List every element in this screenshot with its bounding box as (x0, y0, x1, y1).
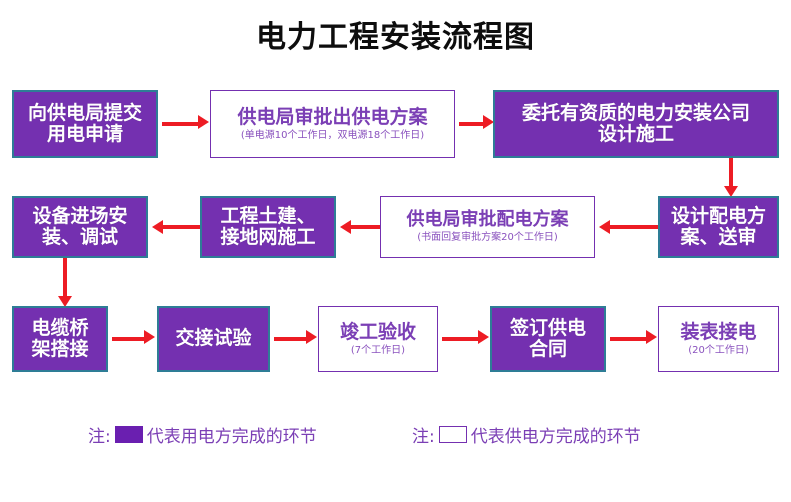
node-commission-installer[interactable]: 委托有资质的电力安装公司 设计施工 (493, 90, 779, 158)
node-handover-test[interactable]: 交接试验 (157, 306, 270, 372)
node-sign-contract-line1: 签订供电 (510, 318, 586, 339)
legend-utility-side: 注: 代表供电方完成的环节 (412, 422, 641, 447)
node-meter-connect[interactable]: 装表接电 (20个工作日) (658, 306, 779, 372)
arrow-approve-to-commission (459, 122, 485, 126)
legend-customer-text: 代表用电方完成的环节 (147, 422, 317, 447)
node-completion-acceptance-note: (7个工作日) (351, 345, 405, 356)
arrow-acceptance-to-contract (442, 337, 480, 341)
node-handover-test-title: 交接试验 (175, 328, 251, 349)
arrow-head-cable-tray-to-handover (144, 330, 155, 344)
node-apply-line2: 用电申请 (47, 124, 123, 145)
node-approve-supply-plan[interactable]: 供电局审批出供电方案 (单电源10个工作日，双电源18个工作日) (210, 90, 455, 158)
node-civil-and-grounding-line1: 工程土建、 (220, 206, 315, 227)
arrow-head-acceptance-to-contract (478, 330, 489, 344)
node-civil-and-grounding[interactable]: 工程土建、 接地网施工 (200, 196, 336, 258)
node-approve-distribution-plan-title: 供电局审批配电方案 (407, 210, 569, 230)
legend-utility-swatch (439, 426, 467, 443)
node-approve-distribution-plan[interactable]: 供电局审批配电方案 (书面回复审批方案20个工作日) (380, 196, 595, 258)
arrow-equipment-to-cable-tray (63, 258, 67, 298)
node-approve-distribution-plan-note: (书面回复审批方案20个工作日) (417, 232, 558, 243)
legend-customer-side: 注: 代表用电方完成的环节 (88, 422, 317, 447)
arrow-design-to-approve-dist (609, 225, 658, 229)
legend-customer-prefix: 注: (88, 422, 111, 447)
node-meter-connect-note: (20个工作日) (688, 345, 749, 356)
node-cable-tray[interactable]: 电缆桥 架搭接 (12, 306, 108, 372)
arrow-apply-to-approve (162, 122, 200, 126)
node-apply[interactable]: 向供电局提交 用电申请 (12, 90, 158, 158)
node-sign-contract-line2: 合同 (529, 339, 567, 360)
node-approve-supply-plan-note: (单电源10个工作日，双电源18个工作日) (241, 130, 424, 141)
arrow-handover-to-acceptance (274, 337, 308, 341)
node-design-distribution-plan-line1: 设计配电方 (671, 206, 766, 227)
node-design-distribution-plan[interactable]: 设计配电方 案、送审 (658, 196, 779, 258)
node-commission-installer-line1: 委托有资质的电力安装公司 (522, 103, 750, 124)
node-apply-line1: 向供电局提交 (28, 103, 142, 124)
node-approve-supply-plan-title: 供电局审批出供电方案 (237, 107, 427, 128)
legend-utility-text: 代表供电方完成的环节 (471, 422, 641, 447)
arrow-cable-tray-to-handover (112, 337, 146, 341)
node-meter-connect-title: 装表接电 (680, 322, 756, 343)
node-design-distribution-plan-line2: 案、送审 (680, 227, 756, 248)
arrow-head-handover-to-acceptance (306, 330, 317, 344)
node-civil-and-grounding-line2: 接地网施工 (220, 227, 315, 248)
arrow-head-contract-to-meter (646, 330, 657, 344)
arrow-commission-to-design (729, 158, 733, 188)
arrow-head-apply-to-approve (198, 115, 209, 129)
node-completion-acceptance[interactable]: 竣工验收 (7个工作日) (318, 306, 438, 372)
node-commission-installer-line2: 设计施工 (598, 124, 674, 145)
arrow-approve-dist-to-civil (350, 225, 380, 229)
node-equipment-install-line1: 设备进场安 (32, 206, 127, 227)
flowchart-canvas: 电力工程安装流程图 向供电局提交 用电申请 供电局审批出供电方案 (单电源10个… (0, 0, 791, 502)
node-completion-acceptance-title: 竣工验收 (340, 322, 416, 343)
node-cable-tray-line1: 电缆桥 (31, 318, 88, 339)
arrow-civil-to-equipment (162, 225, 200, 229)
node-equipment-install[interactable]: 设备进场安 装、调试 (12, 196, 148, 258)
legend-utility-prefix: 注: (412, 422, 435, 447)
page-title: 电力工程安装流程图 (0, 20, 791, 56)
node-sign-contract[interactable]: 签订供电 合同 (490, 306, 606, 372)
node-cable-tray-line2: 架搭接 (31, 339, 88, 360)
arrow-contract-to-meter (610, 337, 648, 341)
node-equipment-install-line2: 装、调试 (42, 227, 118, 248)
legend-customer-swatch (115, 426, 143, 443)
